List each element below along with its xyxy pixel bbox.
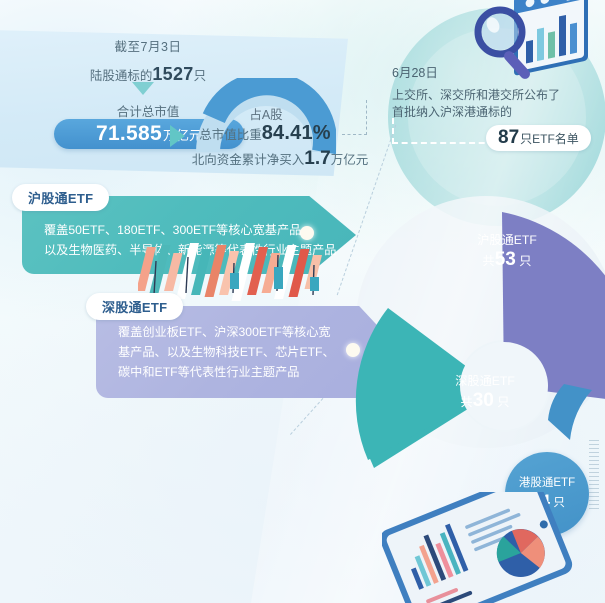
target-count-prefix: 陆股通标的 bbox=[90, 69, 153, 83]
triangle-down-icon bbox=[132, 82, 154, 95]
etf-distribution-pie-chart bbox=[352, 168, 605, 498]
net-buy-prefix: 北向资金累计净买入 bbox=[192, 153, 305, 167]
tag-hu-title-chip[interactable]: 沪股通ETF bbox=[12, 184, 109, 211]
pie-label-shen: 深股通ETF 共30 只 bbox=[432, 373, 538, 413]
tag-hu-title: 沪股通ETF bbox=[28, 188, 93, 207]
tag-shen-line-1: 覆盖创业板ETF、沪深300ETF等核心宽 bbox=[118, 322, 335, 342]
etf-list-badge: 87只ETF名单 bbox=[486, 125, 591, 151]
etf-list-text: 只ETF名单 bbox=[520, 126, 579, 152]
pie-label-shen-name: 深股通ETF bbox=[432, 373, 538, 390]
net-buy-value: 1.7 bbox=[304, 148, 330, 169]
pie-label-shen-value: 共30 只 bbox=[432, 390, 538, 413]
tag-shen-line-2: 基产品、以及生物科技ETF、芯片ETF、 bbox=[118, 342, 335, 362]
magnifier-clipboard-chart-icon bbox=[462, 0, 605, 90]
gauge-caption: 占A股 bbox=[196, 104, 336, 123]
net-buy-line: 北向资金累计净买入1.7万亿元 bbox=[150, 148, 410, 170]
tag-shen-title: 深股通ETF bbox=[102, 297, 167, 316]
tag-hu-line-1: 覆盖50ETF、180ETF、300ETF等核心宽基产品 bbox=[44, 220, 337, 240]
pie-label-hu: 沪股通ETF 共53 只 bbox=[452, 232, 562, 272]
pie-label-hu-value: 共53 只 bbox=[452, 249, 562, 272]
pie-value-shen: 30 bbox=[473, 390, 494, 411]
tablet-dashboard-icon bbox=[382, 492, 582, 603]
pie-value-hu: 53 bbox=[495, 249, 516, 270]
as-of-date: 截至7月3日 bbox=[38, 36, 258, 55]
tag-shen-title-chip[interactable]: 深股通ETF bbox=[86, 293, 183, 320]
share-percent-value: 84.41% bbox=[262, 122, 331, 144]
pie-label-hk-name: 港股通ETF bbox=[519, 475, 575, 491]
pie-label-hu-name: 沪股通ETF bbox=[452, 232, 562, 249]
target-count-value: 1527 bbox=[152, 64, 193, 84]
share-percent-prefix: 总市值比重 bbox=[199, 128, 262, 142]
gauge-dashed-connector bbox=[342, 100, 367, 135]
tag-shen-line-3: 碳中和ETF等代表性行业主题产品 bbox=[118, 362, 335, 382]
etf-list-count: 87 bbox=[498, 125, 519, 151]
infographic-canvas: 截至7月3日 陆股通标的1527只 合计总市值 71.585万亿元 占A股 总市… bbox=[0, 0, 605, 603]
net-buy-unit: 万亿元 bbox=[331, 153, 369, 167]
tag-shen-text: 覆盖创业板ETF、沪深300ETF等核心宽 基产品、以及生物科技ETF、芯片ET… bbox=[118, 322, 335, 382]
